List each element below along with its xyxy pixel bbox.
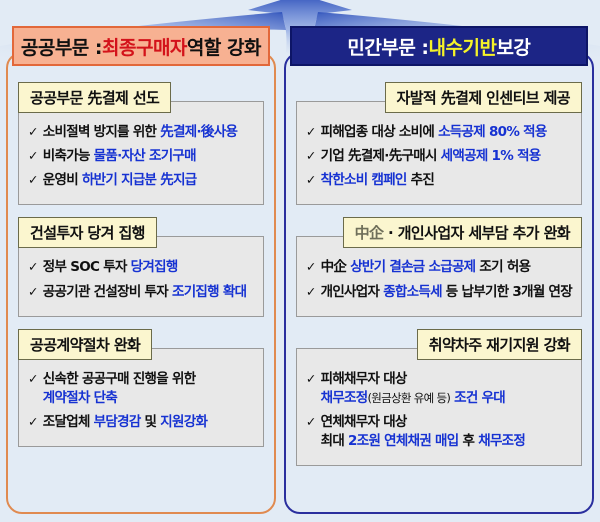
check-icon: ✓: [306, 283, 316, 301]
text-run: 등 납부기한 3개월 연장: [442, 284, 572, 300]
card-title: 자발적 先결제 인센티브 제공: [385, 82, 582, 113]
text-run: 상반기 결손금 소급공제: [350, 259, 475, 275]
bullet-line: 착한소비 캠페인 추진: [321, 172, 435, 188]
text-run: 채무조정: [321, 390, 368, 406]
text-run: 비축가능: [43, 148, 94, 164]
text-run: 추진: [407, 172, 434, 188]
card-title: 공공부문 先결제 선도: [18, 82, 171, 113]
policy-card: 취약차주 재기지원 강화✓피해채무자 대상채무조정(원금상환 유예 등) 조건 …: [296, 329, 582, 467]
bullet-item: ✓공공기관 건설장비 투자 조기집행 확대: [28, 283, 254, 302]
policy-card: 공공계약절차 완화✓신속한 공공구매 진행을 위한계약절차 단축✓조달업체 부담…: [18, 329, 264, 447]
bullet-item: ✓비축가능 물품·자산 조기구매: [28, 147, 254, 166]
bullet-item: ✓조달업체 부담경감 및 지원강화: [28, 413, 254, 432]
policy-card: 건설투자 당겨 집행✓정부 SOC 투자 당겨집행✓공공기관 건설장비 투자 조…: [18, 217, 264, 316]
text-run: 피해업종 대상 소비에: [321, 124, 438, 140]
bullet-text: 신속한 공공구매 진행을 위한계약절차 단축: [43, 370, 254, 408]
check-icon: ✓: [306, 258, 316, 276]
text-run: 先결제·後사용: [160, 124, 237, 140]
left-column-header: 공공부문 : 최종구매자 역할 강화: [12, 26, 270, 66]
card-body: ✓신속한 공공구매 진행을 위한계약절차 단축✓조달업체 부담경감 및 지원강화: [18, 348, 264, 447]
bullet-text: 공공기관 건설장비 투자 조기집행 확대: [43, 283, 254, 302]
bullet-item: ✓착한소비 캠페인 추진: [306, 171, 572, 190]
right-header-prefix: 민간부문 :: [347, 33, 428, 60]
card-body: ✓피해채무자 대상채무조정(원금상환 유예 등) 조건 우대✓연체채무자 대상최…: [296, 348, 582, 467]
bullet-item: ✓기업 先결제·先구매시 세액공제 1% 적용: [306, 147, 572, 166]
check-icon: ✓: [306, 171, 316, 189]
bullet-text: 소비절벽 방지를 위한 先결제·後사용: [43, 123, 254, 142]
bullet-line: 신속한 공공구매 진행을 위한: [43, 371, 196, 387]
text-run: 종합소득세: [383, 284, 442, 300]
left-header-prefix: 공공부문 :: [21, 33, 102, 60]
card-body: ✓소비절벽 방지를 위한 先결제·後사용✓비축가능 물품·자산 조기구매✓운영비…: [18, 101, 264, 205]
policy-card: 자발적 先결제 인센티브 제공✓피해업종 대상 소비에 소득공제 80% 적용✓…: [296, 82, 582, 205]
check-icon: ✓: [28, 258, 38, 276]
bullet-text: 운영비 하반기 지급분 先지급: [43, 171, 254, 190]
bullet-item: ✓연체채무자 대상최대 2조원 연체채권 매입 후 채무조정: [306, 413, 572, 451]
bullet-item: ✓中企 상반기 결손금 소급공제 조기 허용: [306, 258, 572, 277]
bullet-item: ✓피해채무자 대상채무조정(원금상환 유예 등) 조건 우대: [306, 370, 572, 408]
left-header-suffix: 역할 강화: [187, 33, 261, 60]
text-run: 기업 先결제·先구매시: [321, 148, 441, 164]
text-run: 中企: [321, 259, 351, 275]
text-run: 및: [141, 414, 161, 430]
text-run: 조달업체: [43, 414, 94, 430]
bullet-line: 운영비 하반기 지급분 先지급: [43, 172, 197, 188]
bullet-line: 소비절벽 방지를 위한 先결제·後사용: [43, 124, 237, 140]
card-title: 中企 · 개인사업자 세부담 추가 완화: [343, 217, 582, 248]
bullet-item: ✓신속한 공공구매 진행을 위한계약절차 단축: [28, 370, 254, 408]
text-run: 소비절벽 방지를 위한: [43, 124, 160, 140]
text-run: 물품·자산 조기구매: [94, 148, 196, 164]
right-header-suffix: 보강: [496, 33, 530, 60]
check-icon: ✓: [306, 370, 316, 388]
check-icon: ✓: [28, 413, 38, 431]
text-run: 계약절차 단축: [43, 390, 117, 406]
bullet-text: 中企 상반기 결손금 소급공제 조기 허용: [321, 258, 572, 277]
bullet-line: 계약절차 단축: [43, 389, 254, 408]
card-body: ✓정부 SOC 투자 당겨집행✓공공기관 건설장비 투자 조기집행 확대: [18, 236, 264, 316]
text-run: 피해채무자 대상: [321, 371, 407, 387]
text-run: 개인사업자: [321, 284, 384, 300]
card-body: ✓피해업종 대상 소비에 소득공제 80% 적용✓기업 先결제·先구매시 세액공…: [296, 101, 582, 205]
check-icon: ✓: [28, 123, 38, 141]
text-run: 정부 SOC 투자: [43, 259, 131, 275]
text-run: 운영비: [43, 172, 82, 188]
left-header-accent: 최종구매자: [102, 33, 187, 60]
text-run: 지원강화: [160, 414, 207, 430]
text-run: 최대: [321, 433, 348, 449]
bullet-line: 비축가능 물품·자산 조기구매: [43, 148, 196, 164]
bullet-line: 피해업종 대상 소비에 소득공제 80% 적용: [321, 124, 547, 140]
bullet-line: 채무조정(원금상환 유예 등) 조건 우대: [321, 389, 572, 408]
right-header-accent: 내수기반: [429, 33, 497, 60]
bullet-item: ✓개인사업자 종합소득세 등 납부기한 3개월 연장: [306, 283, 572, 302]
bullet-item: ✓소비절벽 방지를 위한 先결제·後사용: [28, 123, 254, 142]
text-run: 공공기관 건설장비 투자: [43, 284, 172, 300]
text-run: 하반기 지급분 先지급: [82, 172, 197, 188]
bullet-line: 연체채무자 대상: [321, 414, 407, 430]
text-run: 中企: [355, 224, 384, 242]
bullet-text: 개인사업자 종합소득세 등 납부기한 3개월 연장: [321, 283, 572, 302]
text-run: 부담경감: [94, 414, 141, 430]
left-card-stack: 공공부문 先결제 선도✓소비절벽 방지를 위한 先결제·後사용✓비축가능 물품·…: [6, 74, 276, 514]
bullet-item: ✓피해업종 대상 소비에 소득공제 80% 적용: [306, 123, 572, 142]
text-run: 연체채무자 대상: [321, 414, 407, 430]
check-icon: ✓: [28, 283, 38, 301]
right-card-stack: 자발적 先결제 인센티브 제공✓피해업종 대상 소비에 소득공제 80% 적용✓…: [284, 74, 594, 514]
text-run: 조기 허용: [475, 259, 530, 275]
column-public-sector: 공공부문 : 최종구매자 역할 강화 공공부문 先결제 선도✓소비절벽 방지를 …: [6, 26, 276, 514]
text-run: 당겨집행: [131, 259, 178, 275]
bullet-line: 공공기관 건설장비 투자 조기집행 확대: [43, 284, 247, 300]
card-body: ✓中企 상반기 결손금 소급공제 조기 허용✓개인사업자 종합소득세 등 납부기…: [296, 236, 582, 316]
bullet-text: 조달업체 부담경감 및 지원강화: [43, 413, 254, 432]
policy-card: 中企 · 개인사업자 세부담 추가 완화✓中企 상반기 결손금 소급공제 조기 …: [296, 217, 582, 316]
text-run: 채무조정: [478, 433, 525, 449]
text-run: (원금상환 유예 등): [367, 391, 450, 405]
check-icon: ✓: [306, 123, 316, 141]
bullet-item: ✓정부 SOC 투자 당겨집행: [28, 258, 254, 277]
check-icon: ✓: [28, 370, 38, 388]
text-run: 신속한 공공구매 진행을 위한: [43, 371, 196, 387]
bullet-line: 개인사업자 종합소득세 등 납부기한 3개월 연장: [321, 284, 572, 300]
diagram-columns: 공공부문 : 최종구매자 역할 강화 공공부문 先결제 선도✓소비절벽 방지를 …: [0, 0, 600, 522]
text-run: · 개인사업자 세부담 추가 완화: [383, 224, 570, 242]
policy-card: 공공부문 先결제 선도✓소비절벽 방지를 위한 先결제·後사용✓비축가능 물품·…: [18, 82, 264, 205]
card-title: 건설투자 당겨 집행: [18, 217, 157, 248]
right-column-header: 민간부문 : 내수기반 보강: [290, 26, 588, 66]
bullet-item: ✓운영비 하반기 지급분 先지급: [28, 171, 254, 190]
text-run: 조건 우대: [450, 390, 505, 406]
bullet-line: 中企 상반기 결손금 소급공제 조기 허용: [321, 259, 531, 275]
bullet-text: 착한소비 캠페인 추진: [321, 171, 572, 190]
bullet-line: 피해채무자 대상: [321, 371, 407, 387]
bullet-line: 조달업체 부담경감 및 지원강화: [43, 414, 207, 430]
column-private-sector: 민간부문 : 내수기반 보강 자발적 先결제 인센티브 제공✓피해업종 대상 소…: [284, 26, 594, 514]
check-icon: ✓: [28, 147, 38, 165]
bullet-line: 최대 2조원 연체채권 매입 후 채무조정: [321, 432, 572, 451]
bullet-line: 기업 先결제·先구매시 세액공제 1% 적용: [321, 148, 541, 164]
bullet-text: 비축가능 물품·자산 조기구매: [43, 147, 254, 166]
check-icon: ✓: [28, 171, 38, 189]
bullet-text: 기업 先결제·先구매시 세액공제 1% 적용: [321, 147, 572, 166]
text-run: 2조원 연체채권 매입: [348, 433, 458, 449]
text-run: 착한소비 캠페인: [321, 172, 407, 188]
card-title: 공공계약절차 완화: [18, 329, 152, 360]
bullet-text: 정부 SOC 투자 당겨집행: [43, 258, 254, 277]
bullet-text: 피해채무자 대상채무조정(원금상환 유예 등) 조건 우대: [321, 370, 572, 408]
text-run: 후: [459, 433, 479, 449]
check-icon: ✓: [306, 413, 316, 431]
text-run: 세액공제 1% 적용: [441, 148, 541, 164]
bullet-line: 정부 SOC 투자 당겨집행: [43, 259, 178, 275]
bullet-text: 연체채무자 대상최대 2조원 연체채권 매입 후 채무조정: [321, 413, 572, 451]
text-run: 조기집행 확대: [172, 284, 246, 300]
check-icon: ✓: [306, 147, 316, 165]
card-title: 취약차주 재기지원 강화: [417, 329, 582, 360]
text-run: 소득공제 80% 적용: [438, 124, 547, 140]
bullet-text: 피해업종 대상 소비에 소득공제 80% 적용: [321, 123, 572, 142]
